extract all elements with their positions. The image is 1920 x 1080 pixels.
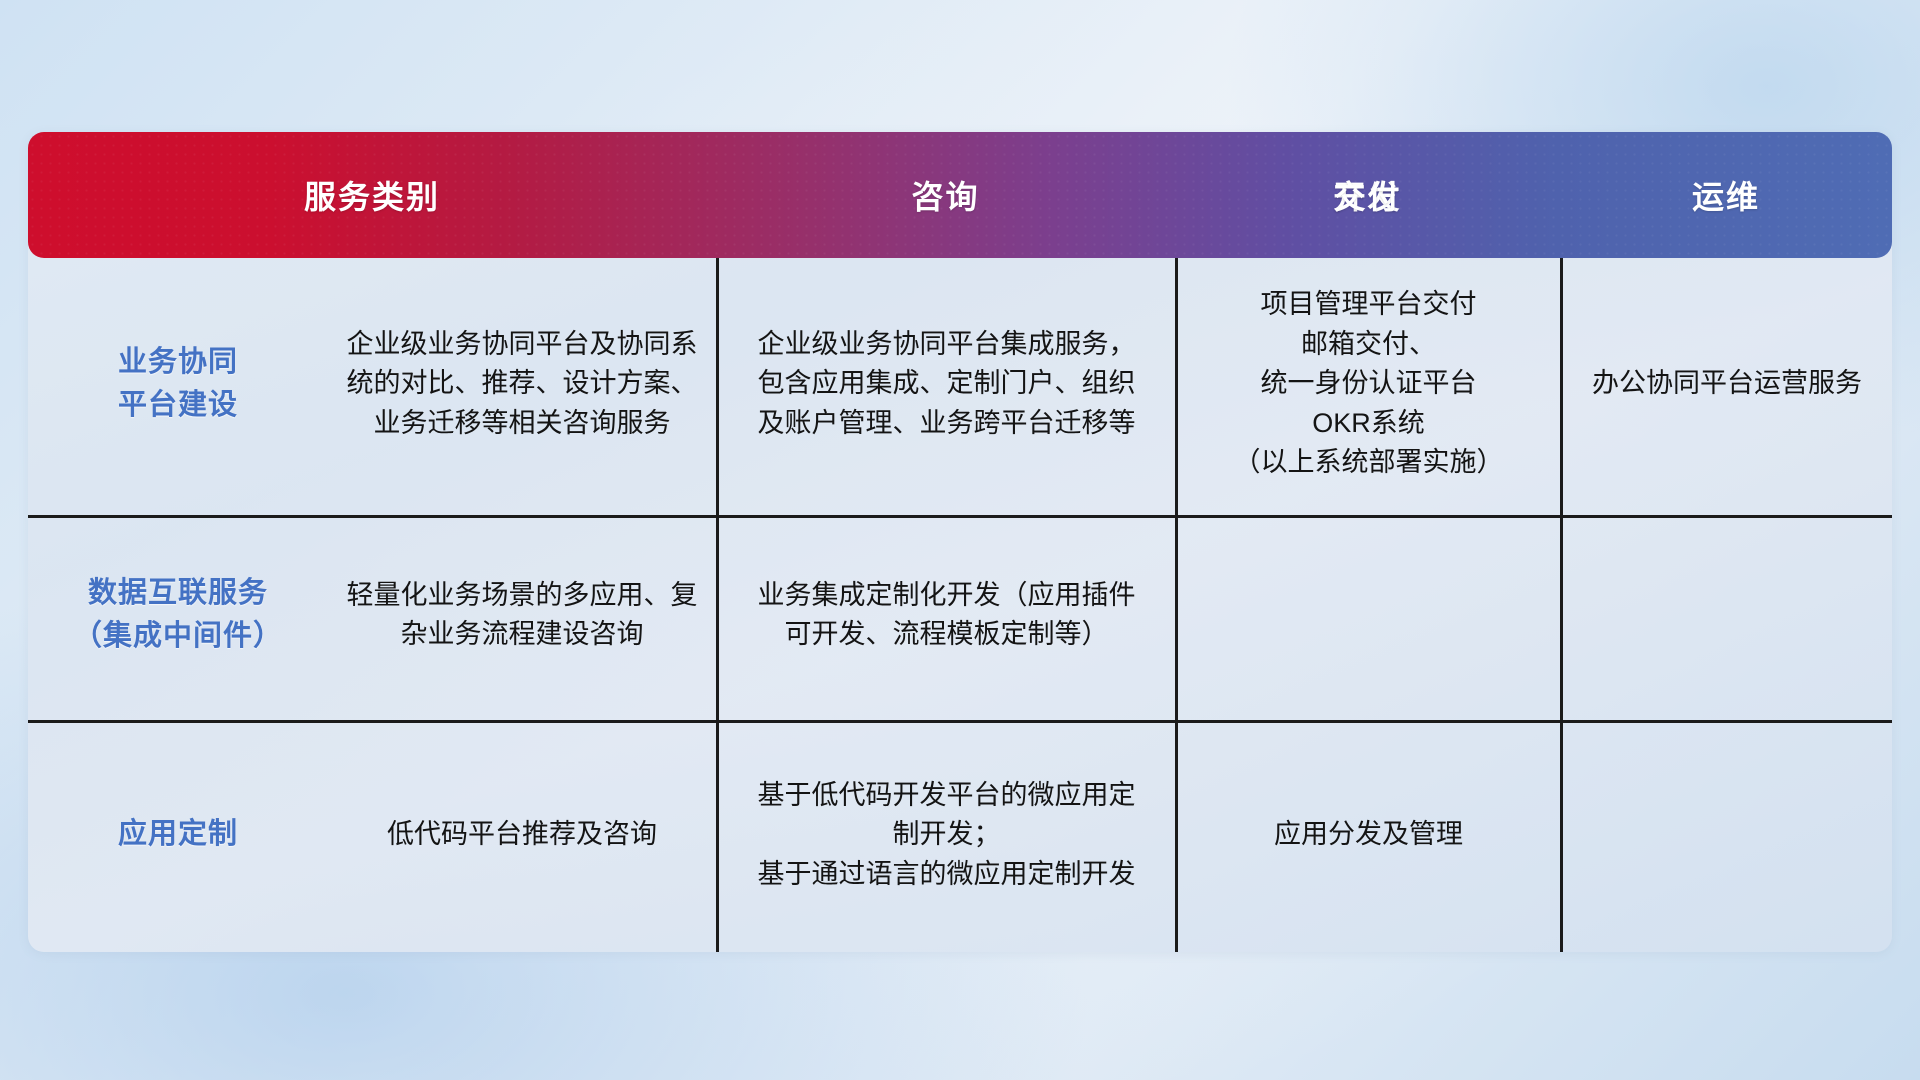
cell-consulting-r2: 轻量化业务场景的多应用、复 杂业务流程建设咨询 (347, 576, 698, 655)
table-row (1562, 515, 1892, 715)
cell-development-r1: 企业级业务协同平台集成服务， 包含应用集成、定制门户、组织 及账户管理、业务跨平… (758, 325, 1136, 443)
header-label-operations: 运维 (1692, 172, 1760, 218)
header-cell-consulting: 咨询 (716, 132, 1175, 258)
table-row: 低代码平台推荐及咨询 (328, 720, 716, 950)
header-cell-operations: 运维 (1560, 132, 1892, 258)
cell-category-r3: 应用定制 (118, 813, 238, 857)
table-row (1177, 515, 1560, 715)
table-row: 项目管理平台交付 邮箱交付、 统一身份认证平台 OKR系统 （以上系统部署实施） (1177, 258, 1560, 510)
cell-development-r3: 基于低代码开发平台的微应用定 制开发； 基于通过语言的微应用定制开发 (758, 776, 1136, 894)
slide-canvas: 服务类别 咨询 开发 交付 运维 业务协同 平台建设 企业级业务协同平台及协同系… (0, 0, 1920, 1080)
cell-delivery-r3: 应用分发及管理 (1274, 815, 1463, 854)
table-row: 基于低代码开发平台的微应用定 制开发； 基于通过语言的微应用定制开发 (718, 720, 1175, 950)
header-label-delivery: 交付 (1333, 172, 1401, 218)
table-row: 轻量化业务场景的多应用、复 杂业务流程建设咨询 (328, 515, 716, 715)
table-row (1562, 720, 1892, 950)
header-label-consulting: 咨询 (911, 172, 979, 218)
table-row: 数据互联服务 （集成中间件） (28, 515, 328, 715)
table-row: 业务集成定制化开发（应用插件 可开发、流程模板定制等） (718, 515, 1175, 715)
header-cell-category: 服务类别 (28, 132, 716, 258)
table-row: 企业级业务协同平台集成服务， 包含应用集成、定制门户、组织 及账户管理、业务跨平… (718, 258, 1175, 510)
cell-category-r2: 数据互联服务 （集成中间件） (73, 572, 283, 659)
cell-operations-r1: 办公协同平台运营服务 (1592, 364, 1862, 403)
table-row: 应用分发及管理 (1177, 720, 1560, 950)
table-header-band: 服务类别 咨询 开发 交付 运维 (28, 132, 1892, 258)
table-row: 业务协同 平台建设 (28, 258, 328, 510)
cell-consulting-r3: 低代码平台推荐及咨询 (387, 815, 657, 854)
table-row: 企业级业务协同平台及协同系 统的对比、推荐、设计方案、 业务迁移等相关咨询服务 (328, 258, 716, 510)
table-row: 应用定制 (28, 720, 328, 950)
cell-consulting-r1: 企业级业务协同平台及协同系 统的对比、推荐、设计方案、 业务迁移等相关咨询服务 (347, 325, 698, 443)
cell-delivery-r1: 项目管理平台交付 邮箱交付、 统一身份认证平台 OKR系统 （以上系统部署实施） (1234, 285, 1504, 482)
header-cell-delivery: 交付 (1175, 132, 1560, 258)
cell-category-r1: 业务协同 平台建设 (118, 341, 238, 428)
table-row: 办公协同平台运营服务 (1562, 258, 1892, 510)
cell-development-r2: 业务集成定制化开发（应用插件 可开发、流程模板定制等） (758, 576, 1136, 655)
header-label-category: 服务类别 (304, 172, 440, 218)
